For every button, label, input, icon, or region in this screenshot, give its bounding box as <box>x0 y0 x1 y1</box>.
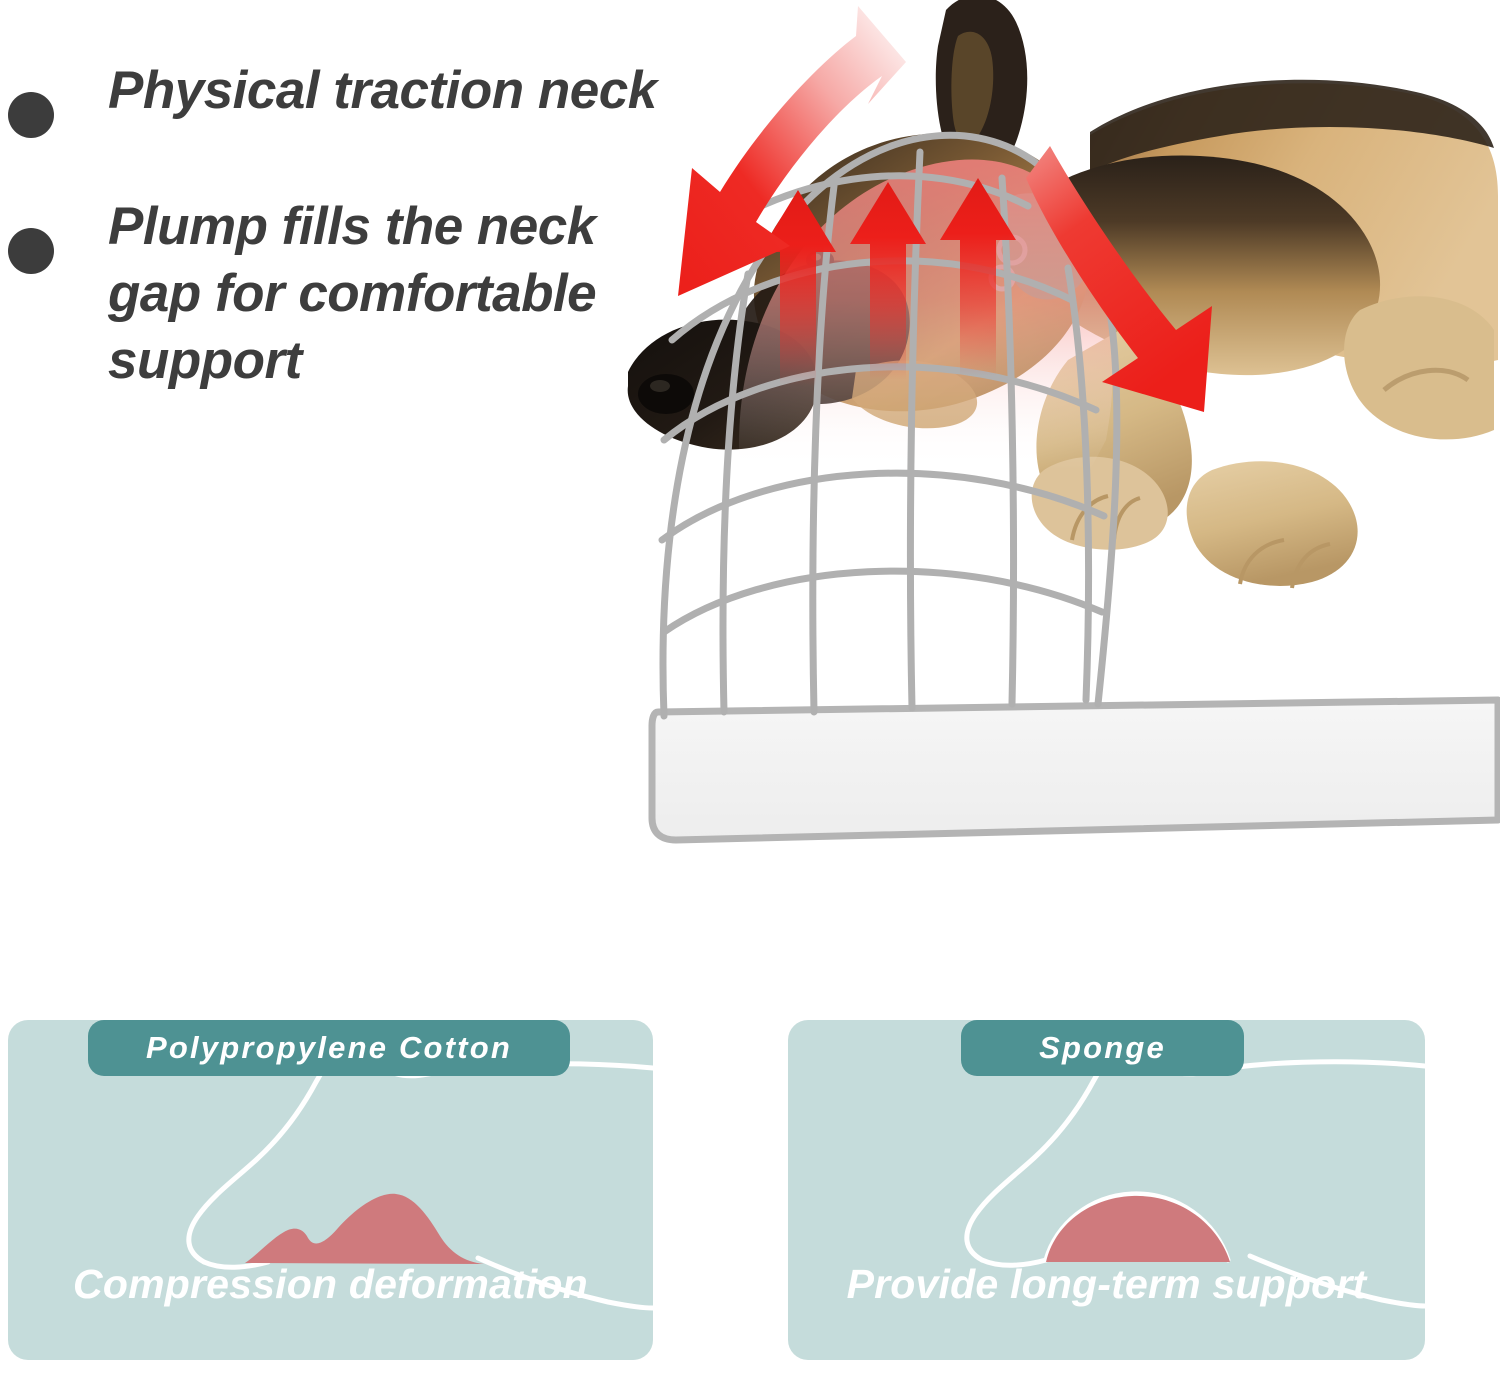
hero-illustration <box>620 0 1500 880</box>
badge-sponge: Sponge <box>961 1020 1244 1076</box>
list-item: Plump fills the neck gap for comfortable… <box>0 194 660 394</box>
bullet-dot-icon <box>8 228 54 274</box>
infographic-canvas: Physical traction neck Plump fills the n… <box>0 0 1500 1379</box>
hero-diagram-svg <box>620 0 1500 880</box>
feature-bullet-list: Physical traction neck Plump fills the n… <box>0 58 660 450</box>
feature-bullet-text-2: Plump fills the neck gap for comfortable… <box>108 194 660 394</box>
support-arrows-group <box>760 178 1016 386</box>
caption-provide-long-term-support: Provide long-term support <box>788 1261 1425 1308</box>
comparison-panel-sponge: Sponge Provide long-term support <box>788 1020 1425 1360</box>
list-item: Physical traction neck <box>0 58 660 138</box>
badge-polypropylene-cotton: Polypropylene Cotton <box>88 1020 570 1076</box>
caption-compression-deformation: Compression deformation <box>8 1261 653 1308</box>
compressed-foam-shape <box>245 1194 484 1264</box>
mattress-base <box>652 700 1498 840</box>
bullet-dot-icon <box>8 92 54 138</box>
intact-foam-shape <box>1046 1196 1230 1262</box>
feature-bullet-text-1: Physical traction neck <box>108 58 657 125</box>
material-comparison-section: Polypropylene Cotton Compression deforma… <box>0 985 1500 1379</box>
comparison-panel-polypropylene-cotton: Polypropylene Cotton Compression deforma… <box>8 1020 653 1360</box>
